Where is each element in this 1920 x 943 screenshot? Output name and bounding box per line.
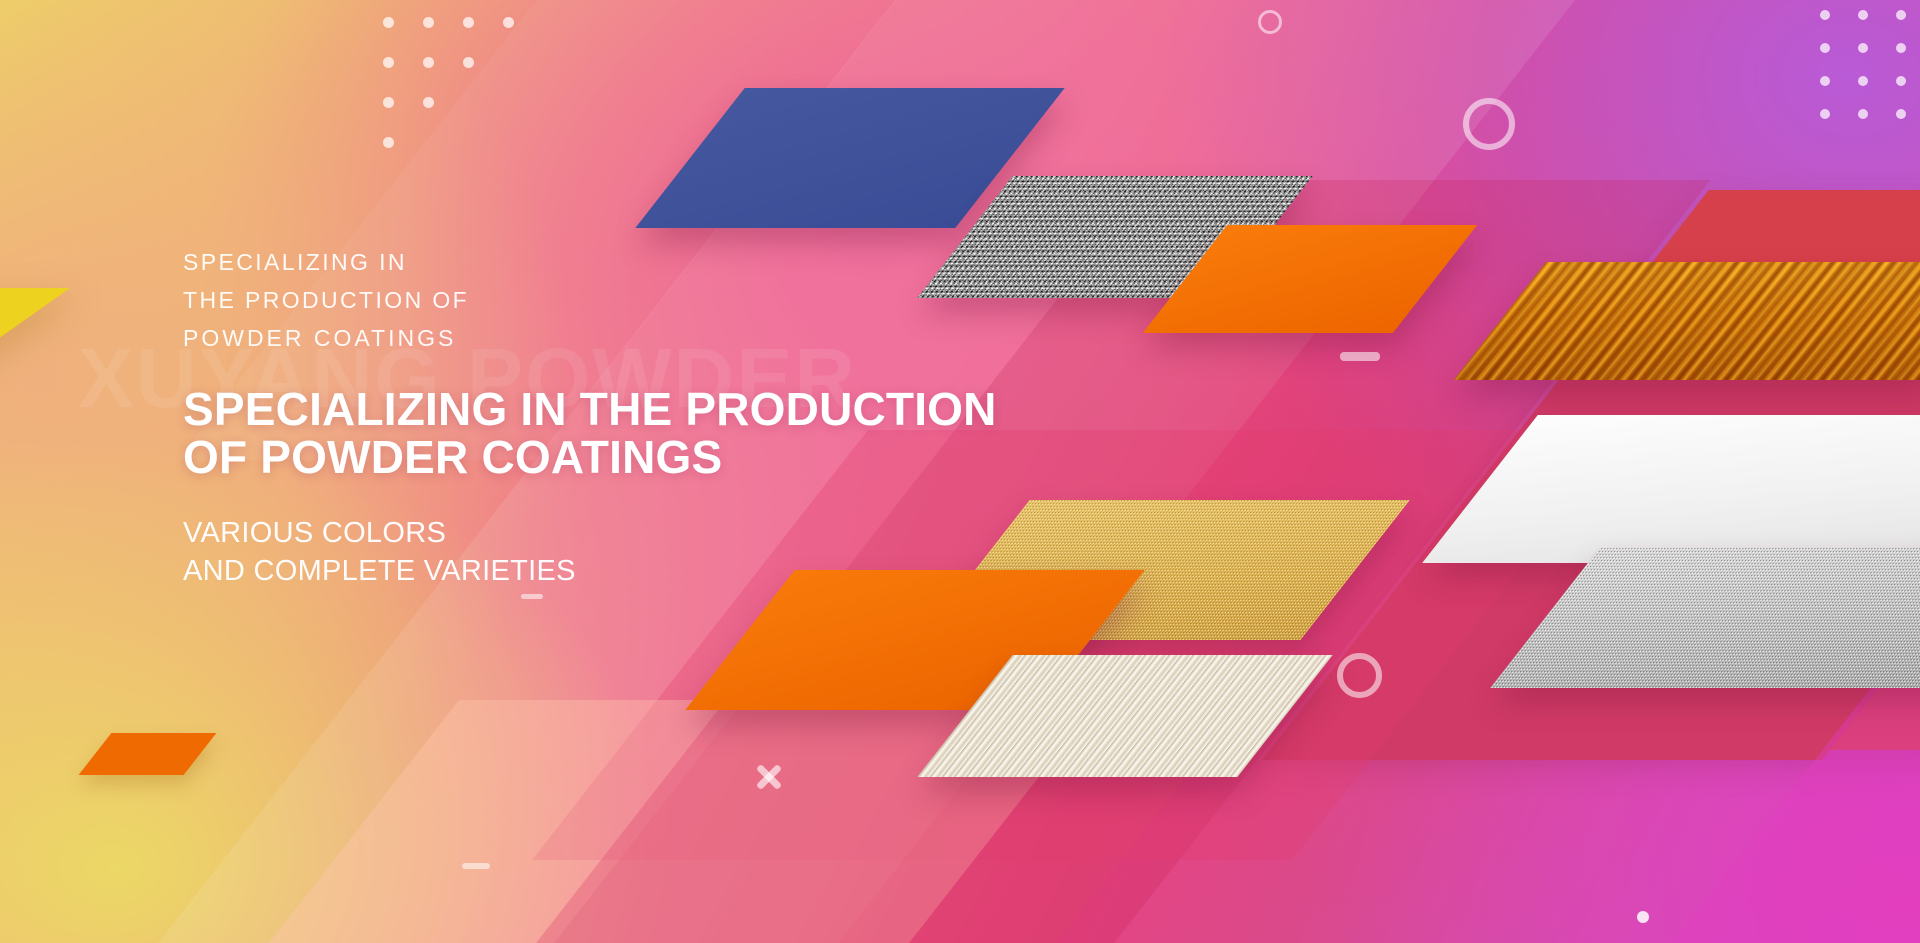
dot-icon — [463, 57, 474, 68]
plus-icon — [462, 863, 490, 869]
dot-icon — [383, 57, 394, 68]
dot-icon — [1637, 911, 1649, 923]
blue-coating-panel — [690, 88, 1010, 228]
dot-icon — [383, 137, 394, 148]
orange-coating-panel-top — [1185, 225, 1435, 333]
dot-icon — [1896, 43, 1906, 53]
hero-banner: XUYANG POWDER SPECIALIZING IN THE PRODUC… — [0, 0, 1920, 943]
dot-icon — [1820, 76, 1830, 86]
dot-icon — [1858, 10, 1868, 20]
dot-icon — [1858, 109, 1868, 119]
dot-icon — [1858, 76, 1868, 86]
subhead-line-2: AND COMPLETE VARIETIES — [183, 555, 576, 587]
orange-small-parallelogram — [95, 733, 200, 775]
eyebrow-line-1: SPECIALIZING IN — [183, 243, 1083, 281]
dot-icon — [1896, 76, 1906, 86]
plus-icon — [521, 594, 543, 599]
headline-line-1: SPECIALIZING IN THE PRODUCTION — [183, 383, 997, 435]
dot-icon — [1820, 10, 1830, 20]
dot-icon — [1896, 10, 1906, 20]
dot-icon — [383, 97, 394, 108]
subhead-line-1: VARIOUS COLORS — [183, 517, 446, 549]
dot-icon — [423, 97, 434, 108]
page-title: SPECIALIZING IN THE PRODUCTION OF POWDER… — [183, 385, 1083, 481]
dot-icon — [1820, 109, 1830, 119]
plus-icon — [1340, 352, 1380, 361]
circle-outline-icon — [1463, 98, 1515, 150]
dot-icon — [423, 57, 434, 68]
cross-icon — [752, 760, 786, 794]
hero-copy: SPECIALIZING IN THE PRODUCTION OF POWDER… — [183, 243, 1083, 590]
wood-grain-cream-panel — [965, 655, 1285, 777]
dot-icon — [1896, 109, 1906, 119]
eyebrow-line-2: THE PRODUCTION OF — [183, 281, 1083, 319]
dot-icon — [463, 17, 474, 28]
dot-icon — [383, 17, 394, 28]
silver-metallic-panel — [1545, 548, 1920, 688]
dot-icon — [423, 17, 434, 28]
wood-grain-orange-panel — [1500, 262, 1920, 380]
yellow-triangle-accent — [0, 288, 70, 380]
dot-icon — [1858, 43, 1868, 53]
circle-outline-icon — [1258, 10, 1282, 34]
dot-icon — [503, 17, 514, 28]
subhead: VARIOUS COLORS AND COMPLETE VARIETIES — [183, 514, 1083, 590]
dot-icon — [1820, 43, 1830, 53]
headline-line-2: OF POWDER COATINGS — [183, 431, 722, 483]
white-gloss-panel — [1480, 415, 1920, 563]
circle-outline-icon — [1337, 653, 1382, 698]
eyebrow-line-3: POWDER COATINGS — [183, 319, 1083, 357]
